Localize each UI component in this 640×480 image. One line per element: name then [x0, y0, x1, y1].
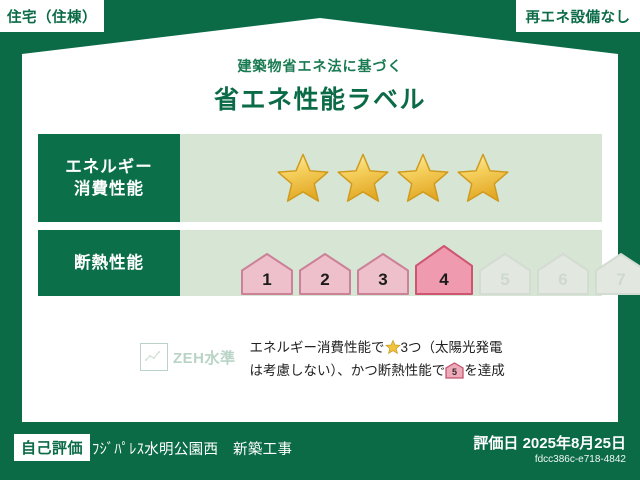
zeh-description-line1: エネルギー消費性能で 3つ（太陽光発電	[250, 337, 505, 360]
zeh-description-line2: は考慮しない）、かつ断熱性能で 5 を達成	[250, 360, 505, 383]
insulation-performance-label: 断熱性能	[38, 230, 180, 296]
zeh-standard-note: ZEH水準 エネルギー消費性能で 3つ（太陽光発電 は考慮しない）、かつ断熱性能…	[140, 337, 505, 383]
energy-label-card: 住宅（住棟） 再エネ設備なし 建築物省エネ法に基づく 省エネ性能ラベル エネルギ…	[0, 0, 640, 480]
insulation-performance-value: 1234567	[180, 230, 640, 296]
star-rating	[180, 151, 510, 205]
zeh-desc-text-1: エネルギー消費性能で	[250, 340, 385, 355]
insulation-performance-row: 断熱性能 1234567	[38, 230, 602, 296]
insulation-grade-number: 7	[594, 270, 640, 290]
star-icon	[336, 151, 390, 205]
insulation-grade-scale: 1234567	[180, 230, 640, 296]
energy-performance-row: エネルギー 消費性能	[38, 134, 602, 222]
energy-performance-label: エネルギー 消費性能	[38, 134, 180, 222]
title-subtitle: 建築物省エネ法に基づく	[0, 56, 640, 76]
zeh-desc-text-4: を達成	[464, 363, 505, 378]
insulation-grade-house: 3	[356, 252, 410, 296]
performance-rows: エネルギー 消費性能 断熱性能 1234567	[38, 134, 602, 304]
zeh-mark: ZEH水準	[140, 343, 236, 371]
energy-label-line1: エネルギー	[65, 156, 153, 178]
zeh-desc-text-2: 3つ（太陽光発電	[401, 340, 503, 355]
zeh-description: エネルギー消費性能で 3つ（太陽光発電 は考慮しない）、かつ断熱性能で 5 を達…	[250, 337, 505, 383]
energy-label-line2: 消費性能	[74, 178, 144, 200]
insulation-grade-house: 1	[240, 252, 294, 296]
insulation-grade-number: 3	[356, 270, 410, 290]
evaluation-id: fdcc386c-e718-4842	[535, 454, 626, 465]
insulation-grade-number: 1	[240, 270, 294, 290]
insulation-grade-house: 5	[478, 252, 532, 296]
inline-star-icon	[385, 339, 401, 355]
evaluation-date: 評価日 2025年8月25日	[473, 432, 626, 453]
energy-performance-value	[180, 134, 602, 222]
footer: 自己評価 ﾌｼﾞﾊﾟﾚｽ水明公園西 新築工事 評価日 2025年8月25日 fd…	[0, 424, 640, 480]
building-type-badge: 住宅（住棟）	[0, 0, 104, 32]
zeh-house-icon	[140, 343, 168, 371]
renewable-energy-badge: 再エネ設備なし	[516, 0, 640, 32]
title-main: 省エネ性能ラベル	[0, 80, 640, 116]
insulation-grade-number: 4	[414, 270, 474, 290]
star-icon	[276, 151, 330, 205]
star-icon	[456, 151, 510, 205]
zeh-desc-text-3: は考慮しない）、かつ断熱性能で	[250, 363, 446, 378]
star-icon	[396, 151, 450, 205]
insulation-grade-house: 2	[298, 252, 352, 296]
insulation-grade-number: 6	[536, 270, 590, 290]
evaluation-date-label: 評価日	[473, 435, 518, 452]
svg-text:5: 5	[452, 367, 457, 377]
insulation-grade-house: 4	[414, 244, 474, 296]
insulation-grade-house: 7	[594, 252, 640, 296]
insulation-label-line1: 断熱性能	[74, 252, 144, 274]
insulation-grade-house: 6	[536, 252, 590, 296]
insulation-grade-number: 2	[298, 270, 352, 290]
building-name: ﾌｼﾞﾊﾟﾚｽ水明公園西 新築工事	[92, 438, 292, 459]
page-title: 建築物省エネ法に基づく 省エネ性能ラベル	[0, 56, 640, 116]
insulation-grade-number: 5	[478, 270, 532, 290]
evaluation-date-value: 2025年8月25日	[523, 435, 626, 452]
zeh-label: ZEH水準	[173, 347, 236, 368]
inline-house-badge: 5	[445, 362, 464, 379]
self-evaluation-badge: 自己評価	[14, 434, 90, 461]
